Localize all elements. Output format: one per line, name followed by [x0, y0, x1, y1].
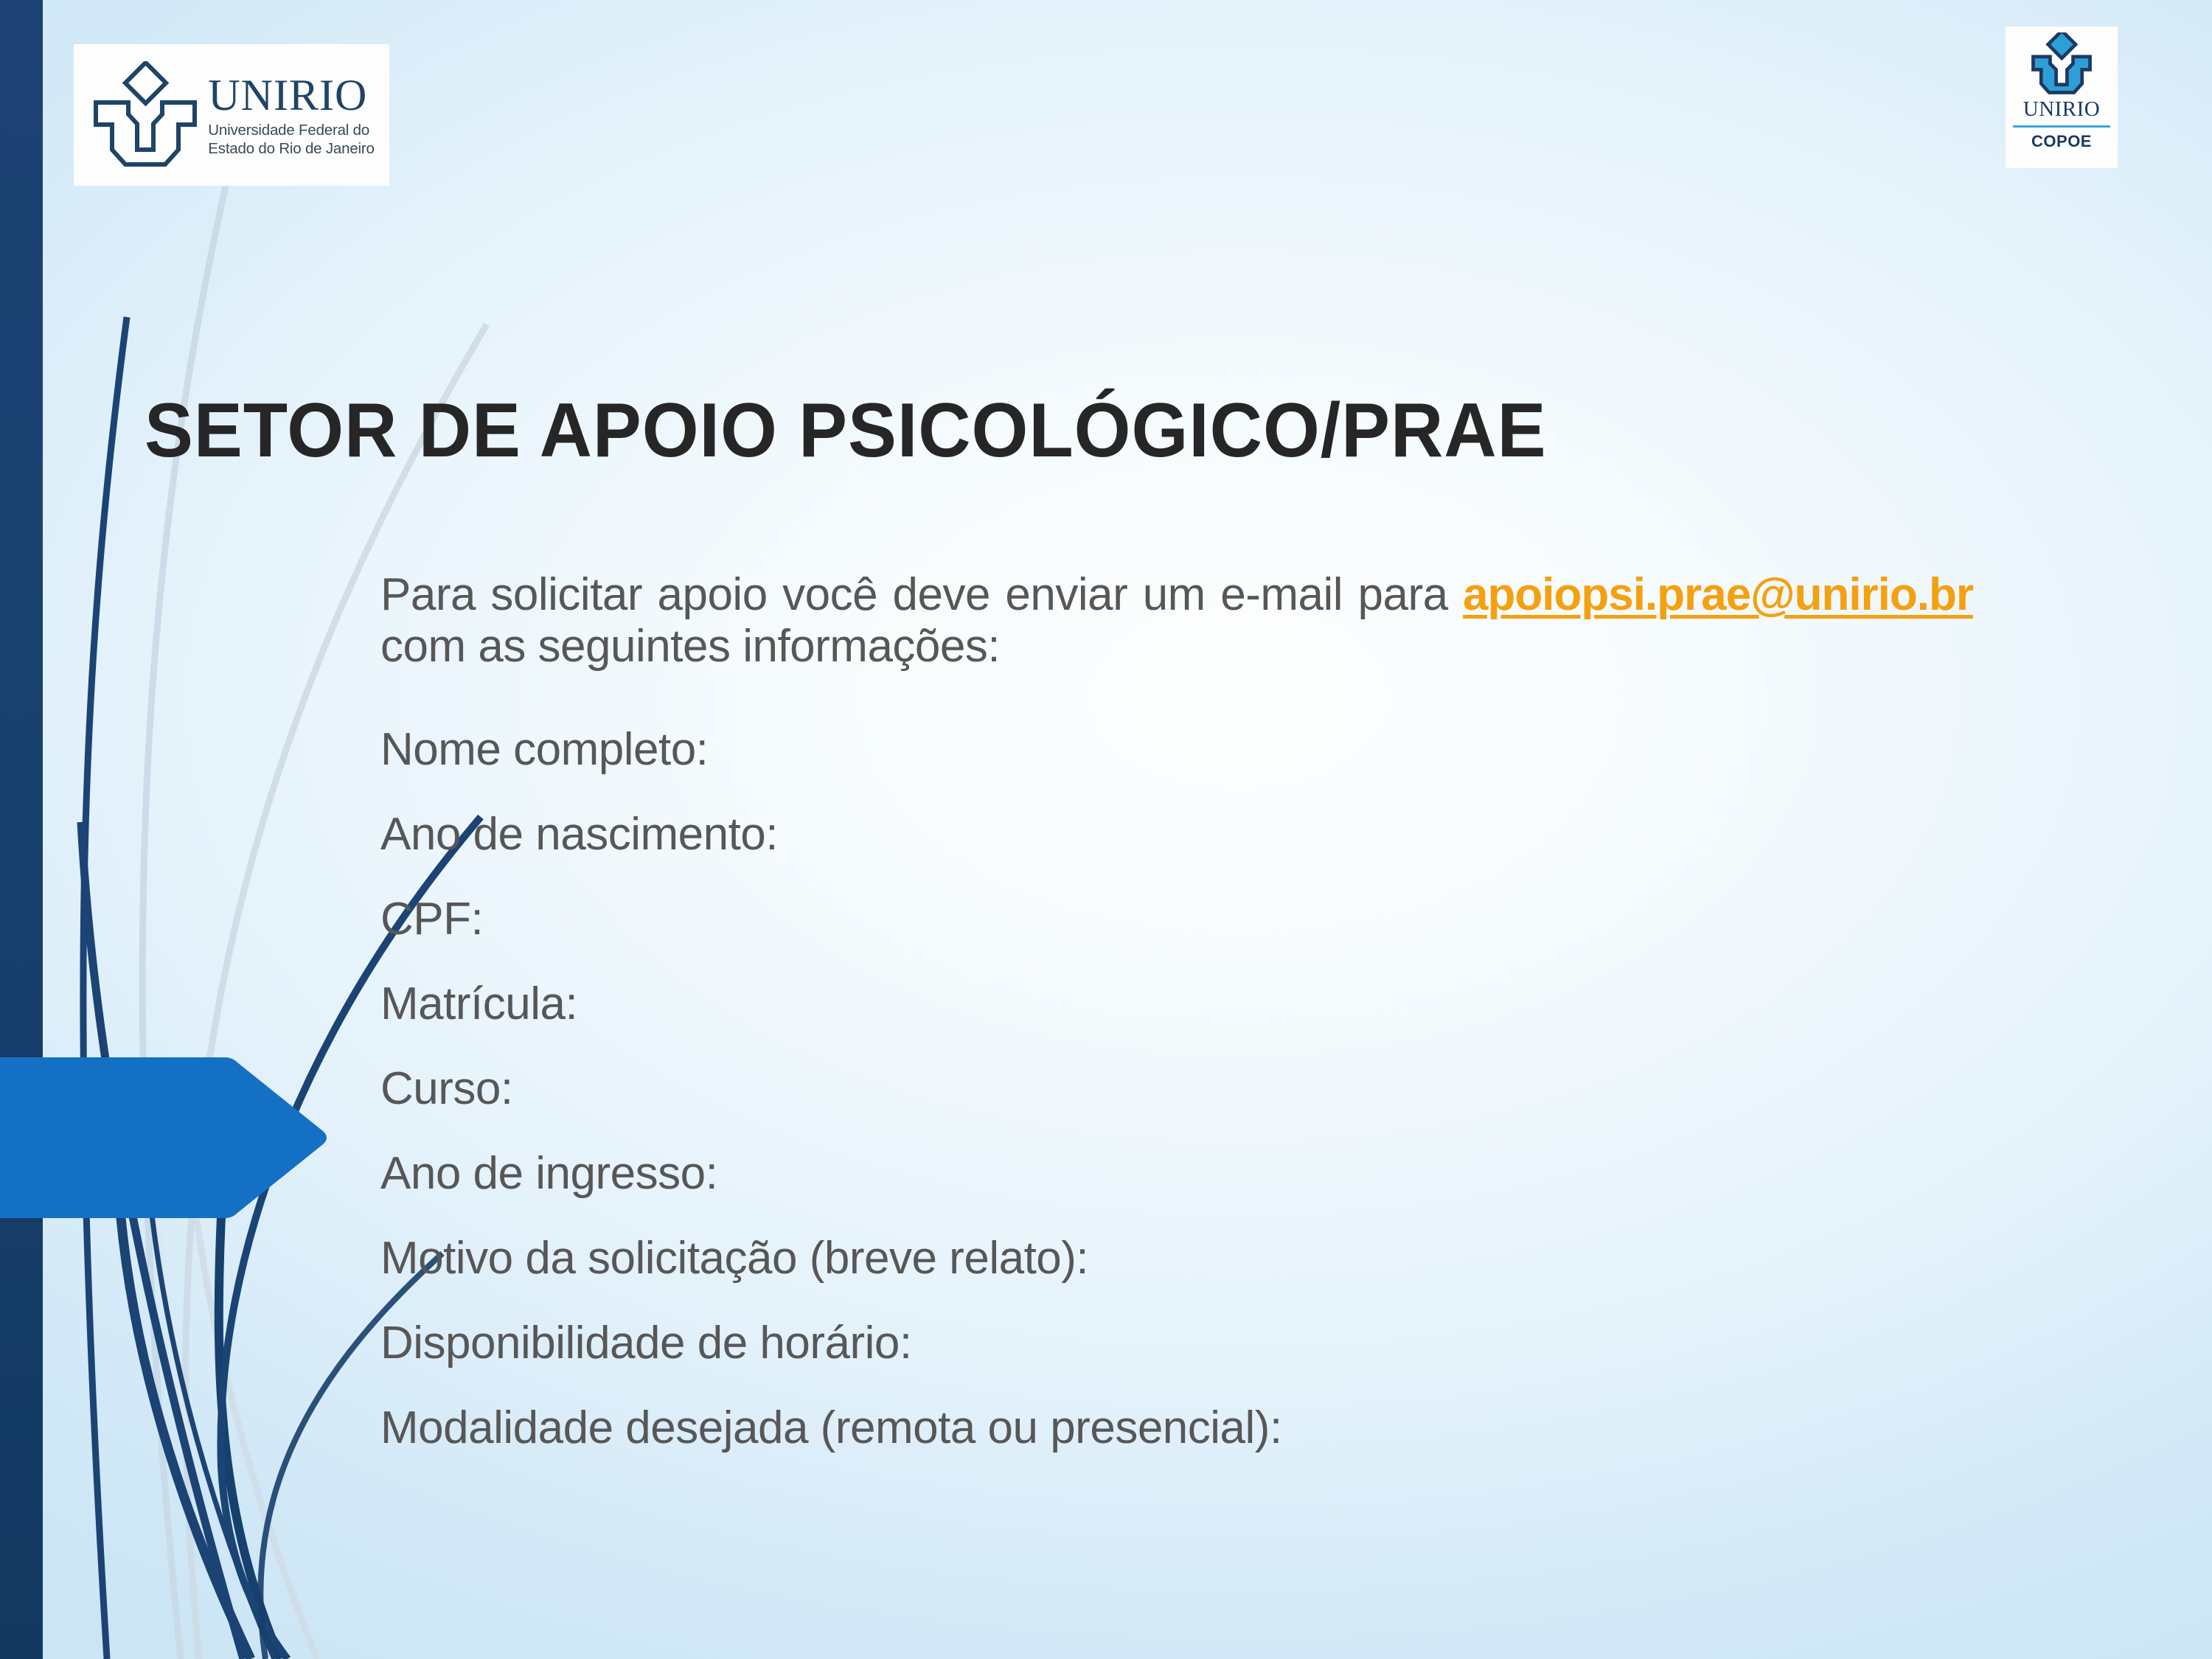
email-link[interactable]: apoiopsi.prae@unirio.br: [1463, 569, 1973, 620]
requested-fields-list: Nome completo: Ano de nascimento: CPF: M…: [380, 727, 2003, 1451]
list-item: Ano de nascimento:: [380, 812, 2003, 858]
list-item: Ano de ingresso:: [380, 1151, 2003, 1197]
list-item: CPF:: [380, 897, 2003, 942]
unirio-wordmark: UNIRIO: [208, 73, 374, 117]
unirio-subtitle-line2: Estado do Rio de Janeiro: [208, 139, 374, 158]
slide-canvas: UNIRIO Universidade Federal do Estado do…: [0, 0, 2212, 1659]
unirio-u-emblem-icon: [2026, 32, 2097, 96]
list-item: Curso:: [380, 1066, 2003, 1112]
intro-paragraph: Para solicitar apoio você deve enviar um…: [380, 569, 1973, 672]
copoe-label: COPOE: [2031, 132, 2092, 151]
intro-text-after-email: com as seguintes informações:: [380, 621, 1000, 672]
page-title: SETOR DE APOIO PSICOLÓGICO/PRAE: [145, 392, 2036, 469]
list-item: Disponibilidade de horário:: [380, 1321, 2003, 1366]
copoe-unirio-wordmark: UNIRIO: [2023, 97, 2101, 122]
intro-text-before-email: Para solicitar apoio você deve enviar um…: [380, 569, 1463, 620]
unirio-logo: UNIRIO Universidade Federal do Estado do…: [74, 44, 389, 186]
copoe-divider: [2013, 125, 2110, 128]
list-item: Motivo da solicitação (breve relato):: [380, 1236, 2003, 1281]
unirio-subtitle-line1: Universidade Federal do: [208, 121, 374, 139]
blue-arrow-callout-shape: [0, 1057, 332, 1218]
unirio-subtitle: Universidade Federal do Estado do Rio de…: [208, 121, 374, 158]
unirio-u-emblem-icon: [93, 61, 198, 169]
list-item: Nome completo:: [380, 727, 2003, 773]
list-item: Modalidade desejada (remota ou presencia…: [380, 1405, 2003, 1451]
slide-body: Para solicitar apoio você deve enviar um…: [380, 569, 2003, 1490]
left-navy-rail: [0, 0, 43, 1659]
copoe-logo: UNIRIO COPOE: [2006, 27, 2118, 168]
list-item: Matrícula:: [380, 981, 2003, 1027]
